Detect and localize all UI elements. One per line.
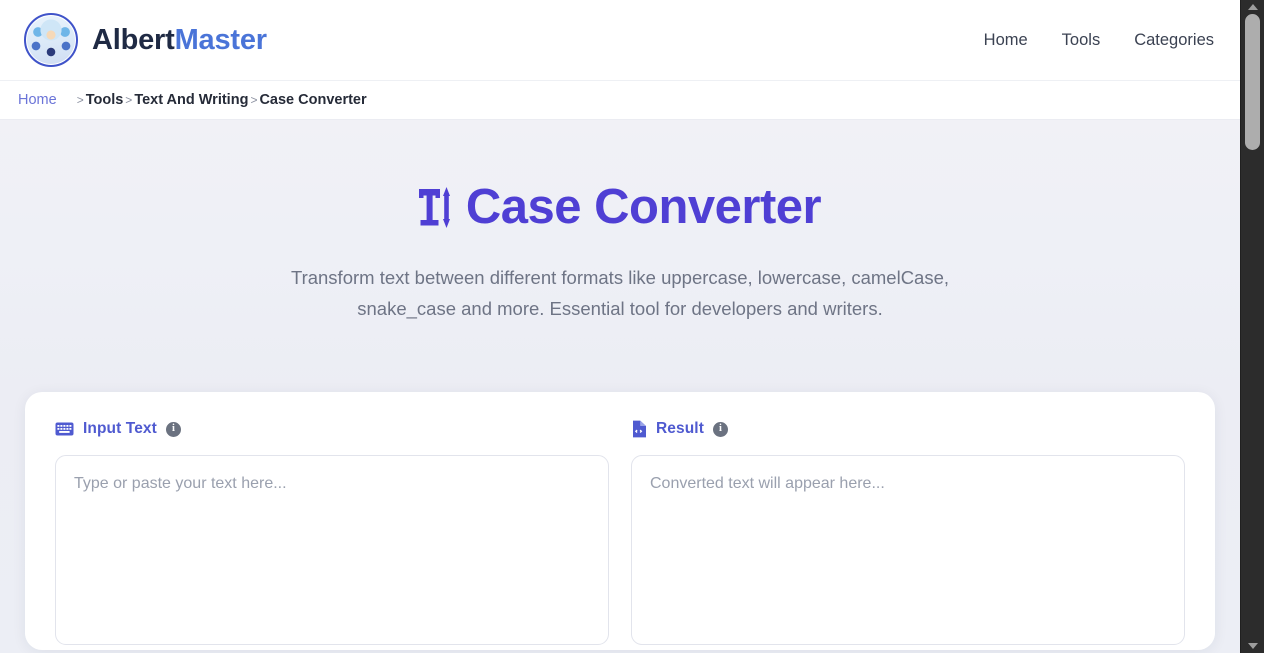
tool-card-region: Input Text i [0, 392, 1240, 653]
info-icon[interactable]: i [713, 422, 728, 437]
page-title: Case Converter [20, 182, 1220, 233]
browser-viewport: AlbertMaster Home Tools Categories Home … [0, 0, 1264, 653]
result-pane-header: Result i [631, 419, 1185, 439]
nav-link-categories[interactable]: Categories [1132, 25, 1216, 56]
result-pane: Result i [631, 419, 1185, 650]
breadcrumb-bar: Home > Tools > Text And Writing > Case C… [0, 81, 1240, 120]
page-content: AlbertMaster Home Tools Categories Home … [0, 0, 1240, 653]
page-scrollbar[interactable] [1240, 0, 1264, 653]
page-title-text: Case Converter [466, 182, 821, 233]
result-text-textarea[interactable] [631, 455, 1185, 645]
file-code-icon [631, 420, 647, 438]
nav-link-tools[interactable]: Tools [1060, 25, 1103, 56]
tool-panes: Input Text i [55, 419, 1185, 650]
brand-logo-link[interactable]: AlbertMaster [24, 13, 267, 67]
breadcrumb-home-link[interactable]: Home [18, 92, 57, 108]
brand-name-secondary: Master [175, 24, 267, 56]
scroll-up-arrow-icon[interactable] [1241, 0, 1264, 14]
scroll-down-arrow-icon[interactable] [1241, 639, 1264, 653]
main-navigation: Home Tools Categories [982, 25, 1216, 56]
breadcrumb-separator-icon: > [77, 93, 84, 107]
breadcrumb-item-text-and-writing[interactable]: Text And Writing [134, 92, 248, 108]
albert-avatar-logo-icon [24, 13, 78, 67]
input-pane: Input Text i [55, 419, 609, 650]
input-pane-header: Input Text i [55, 419, 609, 439]
breadcrumb-separator-icon: > [125, 93, 132, 107]
nav-link-home[interactable]: Home [982, 25, 1030, 56]
keyboard-icon [55, 422, 74, 436]
text-case-height-icon [419, 187, 450, 229]
site-header: AlbertMaster Home Tools Categories [0, 0, 1240, 81]
breadcrumb-separator-icon: > [250, 93, 257, 107]
scrollbar-thumb[interactable] [1245, 14, 1260, 150]
tool-card: Input Text i [25, 392, 1215, 650]
hero-section: Case Converter Transform text between di… [0, 120, 1240, 392]
breadcrumb-item-tools[interactable]: Tools [86, 92, 124, 108]
breadcrumb: Home > Tools > Text And Writing > Case C… [18, 92, 367, 108]
brand-name-primary: Albert [92, 24, 175, 56]
input-pane-label: Input Text [83, 420, 157, 438]
brand-name: AlbertMaster [92, 26, 267, 55]
result-pane-label: Result [656, 420, 704, 438]
input-text-textarea[interactable] [55, 455, 609, 645]
page-description: Transform text between different formats… [270, 263, 970, 324]
info-icon[interactable]: i [166, 422, 181, 437]
breadcrumb-item-case-converter: Case Converter [259, 92, 366, 108]
